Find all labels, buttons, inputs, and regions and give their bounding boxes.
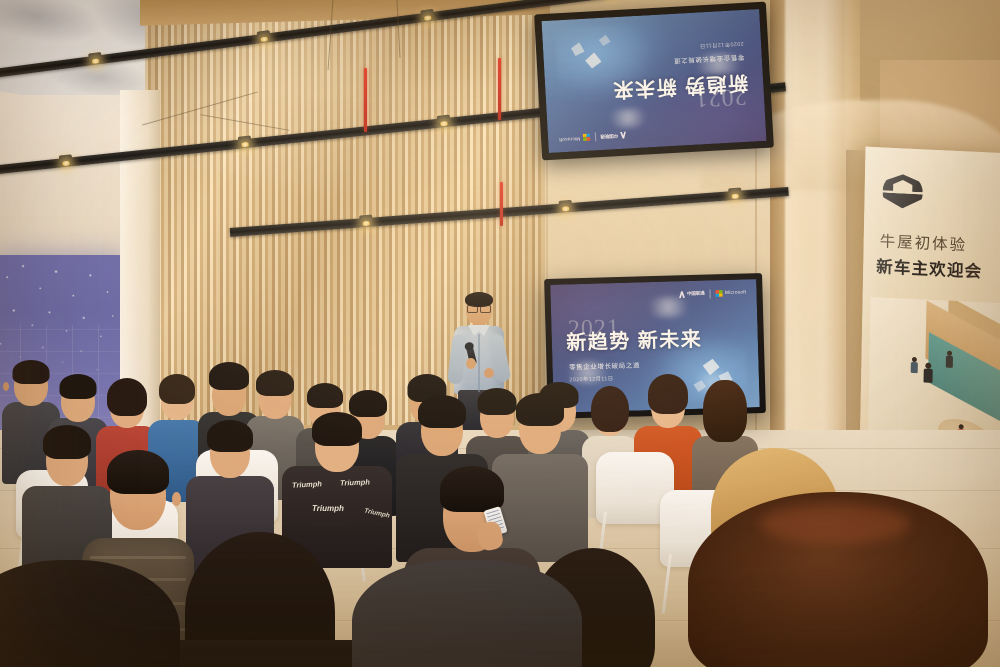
slide-headline-left: 新趋势 [683,71,749,97]
presenter-hand-left [466,358,476,369]
event-photo-scene: 中国联通 Microsoft 2021 新趋势新未来 零售企业增长破局之道 20… [0,0,1000,667]
microsoft-logo: Microsoft [715,289,746,297]
microsoft-squares-icon [715,290,722,297]
microsoft-logo-text: Microsoft [559,135,581,141]
partner-logo: 中国联通 [600,131,626,139]
spotlight-icon [437,115,451,125]
partner-logo: 中国联通 [679,291,705,299]
slide-headline-left: 新趋势 [566,330,631,354]
crystal-shard [703,359,720,376]
presenter-shirt-placket [478,334,480,392]
shirt-brand-text: Triumph [340,477,370,487]
slide-headline: 新趋势新未来 [566,329,703,353]
crystal-shard [599,35,611,47]
shirt-brand-text: Triumph [312,504,344,513]
audience-member-foreground [352,560,582,667]
presenter-hand-right [484,368,494,378]
red-accent-rod [498,58,501,120]
shirt-brand-text: Triumph [292,479,322,490]
logo-divider [709,289,710,298]
ceiling-display-mount: 中国联通 Microsoft 2021 新趋势新未来 零售企业增长破局之道 20… [534,2,774,161]
slide-logo-row: 中国联通 Microsoft [559,130,627,143]
spotlight-icon [88,52,102,63]
spotlight-icon [257,30,271,41]
spotlight-icon [728,187,742,197]
right-column-highlight [785,0,845,490]
spotlight-icon [238,135,252,145]
partner-logo-text: 中国联通 [687,291,705,297]
ceiling-slide: 中国联通 Microsoft 2021 新趋势新未来 零售企业增长破局之道 20… [541,9,766,153]
partner-mark-icon [620,131,626,138]
spotlight-icon [59,154,73,164]
spotlight-icon [420,9,434,20]
crystal-shard [571,42,585,56]
slide-artwork [550,19,627,84]
cloud-shape [641,296,695,318]
logo-divider [594,132,596,141]
slide-headline-right: 新未来 [637,328,702,352]
red-accent-rod [500,182,503,226]
spotlight-icon [359,215,373,225]
audience-member-foreground [172,520,348,667]
crystal-shard [585,52,602,69]
microsoft-logo-text: Microsoft [725,290,746,296]
spotlight-icon [559,200,573,210]
partner-mark-icon [679,291,685,298]
ceiling-display[interactable]: 中国联通 Microsoft 2021 新趋势新未来 零售企业增长破局之道 20… [534,2,774,161]
cloud-shape [603,108,652,129]
microsoft-squares-icon [582,133,589,140]
red-accent-rod [364,68,367,132]
slide-logo-row: 中国联通 Microsoft [679,288,747,299]
glasses-icon [467,305,491,311]
audience-member-foreground [0,560,180,667]
audience-member-foreground [688,492,988,667]
slide-headline-right: 新未来 [612,75,678,101]
slide-date: 2020年12月11日 [699,40,744,50]
partner-logo-text: 中国联通 [600,132,618,139]
slide-subtitle: 零售企业增长破局之道 [569,359,640,371]
microsoft-logo: Microsoft [559,133,590,142]
